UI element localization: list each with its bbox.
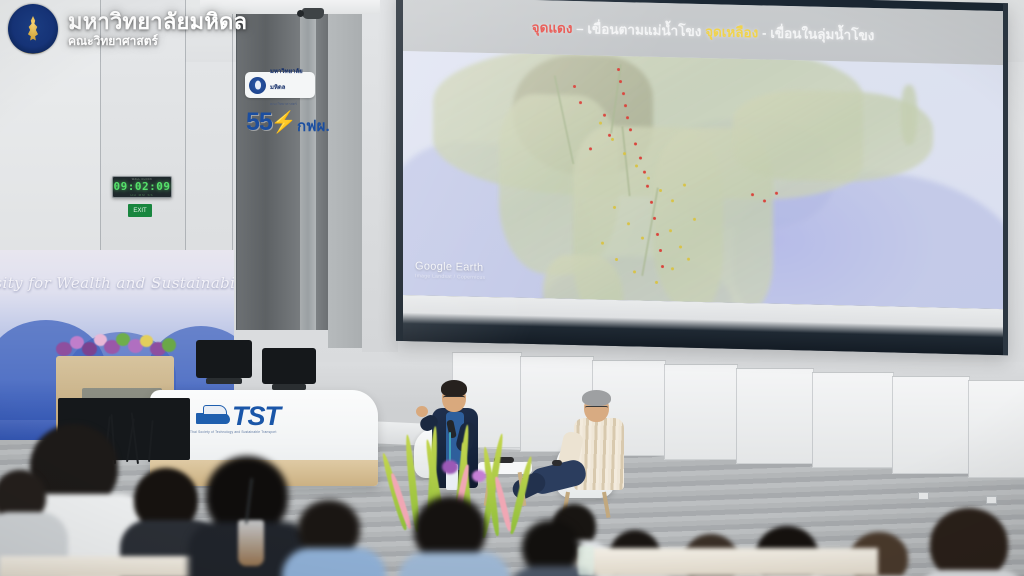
dam-dot-red [589, 147, 592, 150]
dam-dot-red [624, 104, 627, 107]
dam-dot-red [626, 116, 629, 119]
wall-sign-mahidol: มหาวิทยาลัยมหิดล คณะวิทยาศาสตร์ [245, 72, 315, 98]
tst-logo: TST [196, 404, 280, 428]
map-attribution: Google Earth Image Landsat / Copernicus [415, 260, 485, 281]
cabinet-column-dark-2 [316, 0, 328, 330]
projection-screen: จุดแดง – เขื่อนตามแม่น้ำโขง จุดเหลือง - … [396, 0, 1008, 355]
power-outlet [918, 492, 929, 500]
slide-title: จุดแดง – เขื่อนตามแม่น้ำโขง จุดเหลือง - … [532, 16, 875, 46]
exit-sign-label: EXIT [133, 208, 146, 214]
dam-dot-yellow [655, 281, 658, 284]
ship-icon [196, 405, 230, 427]
dam-dot-red [653, 217, 656, 220]
dam-dot-red [643, 171, 646, 174]
slide-title-yellow-term: จุดเหลือง [705, 24, 758, 40]
audience-body [398, 552, 510, 576]
speaker-right-glasses [585, 406, 608, 411]
dam-dot-red [751, 193, 754, 196]
power-outlet [986, 496, 997, 504]
slide-title-text-2: - เขื่อนในลุ่มน้ำโขง [758, 25, 874, 43]
dam-dot-yellow [679, 245, 682, 248]
brand-overlay: มหาวิทยาลัยมหิดล คณะวิทยาศาสตร์ [8, 4, 247, 54]
screen-right-border [1003, 3, 1008, 355]
dam-dot-yellow [659, 189, 662, 192]
screen-surface: จุดแดง – เขื่อนตามแม่น้ำโขง จุดเหลือง - … [403, 0, 1003, 309]
dam-dot-yellow [641, 237, 644, 240]
dam-dot-yellow [671, 267, 674, 270]
dam-dot-red [656, 233, 659, 236]
dam-dot-yellow [693, 218, 696, 221]
dam-dot-yellow [601, 242, 604, 245]
egat-anniversary-number: 55 [246, 112, 272, 133]
mahidol-university-seal-icon [8, 4, 58, 54]
security-camera-icon [302, 8, 324, 19]
dam-dot-red [646, 185, 649, 188]
monitor-center [196, 340, 252, 378]
speaker-right-wristwatch [552, 460, 562, 466]
monitor-right [262, 348, 316, 384]
exit-sign: EXIT [128, 204, 152, 217]
screen-left-border [396, 0, 403, 341]
monitor-right-stand [272, 384, 306, 390]
tst-logo-tagline: Thai Society of Technology and Sustainab… [190, 430, 277, 434]
dam-dot-red [619, 80, 622, 83]
dam-dot-red [639, 157, 642, 160]
dam-dot-red [650, 201, 653, 204]
dam-dot-yellow [687, 258, 690, 261]
speaker-left-hair [441, 380, 467, 397]
audience-head [930, 508, 1008, 576]
audience-body [916, 570, 1024, 576]
plant-flower [472, 470, 486, 482]
clock-time: 09:02:09 [114, 181, 171, 192]
dam-dot-yellow [647, 177, 650, 180]
dam-dot-red [775, 192, 778, 195]
wall-sign-title: มหาวิทยาลัยมหิดล [270, 69, 303, 91]
speaker-left-glasses [443, 396, 465, 401]
mahidol-emblem-icon [249, 77, 266, 94]
dam-dot-red [603, 114, 606, 117]
google-earth-map: Google Earth Image Landsat / Copernicus [403, 51, 1003, 309]
dam-dot-yellow [611, 138, 614, 141]
cabinet-column-light-2 [328, 0, 362, 348]
wall-cabinet [892, 376, 970, 474]
dam-dot-yellow [599, 122, 602, 125]
wall-sign-subtitle: คณะวิทยาศาสตร์ [270, 102, 297, 106]
dam-dot-red [617, 68, 620, 71]
dam-dot-yellow [627, 222, 630, 225]
wall-cabinet [968, 380, 1024, 478]
iced-coffee-cup [238, 520, 264, 566]
plant-flower [442, 460, 458, 474]
speaker-right [556, 388, 638, 518]
audience-member [286, 500, 382, 576]
egat-label: กฟผ. [297, 120, 330, 134]
wall-sign-egat-55: 55 ⚡ กฟผ. [246, 112, 330, 133]
lightning-bolt-icon: ⚡ [271, 114, 297, 132]
dam-dot-yellow [633, 270, 636, 273]
audience-bench-right [548, 548, 878, 576]
audience-member [920, 508, 1024, 576]
clock-sub-label: HH MM SS [131, 193, 154, 197]
faculty-name: คณะวิทยาศาสตร์ [68, 35, 247, 48]
dam-dot-red [573, 85, 576, 88]
dam-dot-yellow [615, 258, 618, 261]
dam-dot-yellow [669, 229, 672, 232]
dam-dot-yellow [613, 206, 616, 209]
dam-dot-yellow [635, 164, 638, 167]
monitor-center-stand [206, 378, 242, 384]
mural-banner-text: ...sity for Wealth and Sustainability [0, 274, 234, 292]
landmass-taiwan [901, 85, 917, 145]
dam-dot-red [579, 101, 582, 104]
audience-body [282, 548, 386, 576]
slide-title-text-1: – เขื่อนตามแม่น้ำโขง [572, 21, 705, 39]
water-bottle [578, 546, 594, 576]
speaker-left-hand [416, 406, 428, 417]
flower [162, 338, 176, 352]
dam-dot-yellow [623, 152, 626, 155]
wall-cabinet [736, 368, 814, 464]
dam-dot-yellow [671, 199, 674, 202]
dam-dot-red [622, 92, 625, 95]
dam-dot-yellow [683, 184, 686, 187]
wall-cabinet [812, 372, 894, 468]
dam-dot-red [629, 128, 632, 131]
dam-dot-red [659, 249, 662, 252]
speaker-right-hair [582, 390, 611, 406]
university-name: มหาวิทยาลัยมหิดล [68, 10, 247, 33]
slide-title-red-term: จุดแดง [532, 20, 573, 36]
digital-wall-clock: WALL CLOCK 09:02:09 HH MM SS [112, 176, 172, 198]
dam-dot-red [608, 134, 611, 137]
dam-dot-red [661, 265, 664, 268]
dam-dot-red [763, 199, 766, 202]
dam-dot-red [634, 142, 637, 145]
wall-panel-3 [362, 0, 398, 352]
audience-member [398, 496, 506, 576]
wall-cabinet [664, 364, 738, 460]
screenshot-root: จุดแดง – เขื่อนตามแม่น้ำโขง จุดเหลือง - … [0, 0, 1024, 576]
cabinet-column-light [300, 0, 316, 330]
tst-logo-text: TST [232, 404, 280, 428]
